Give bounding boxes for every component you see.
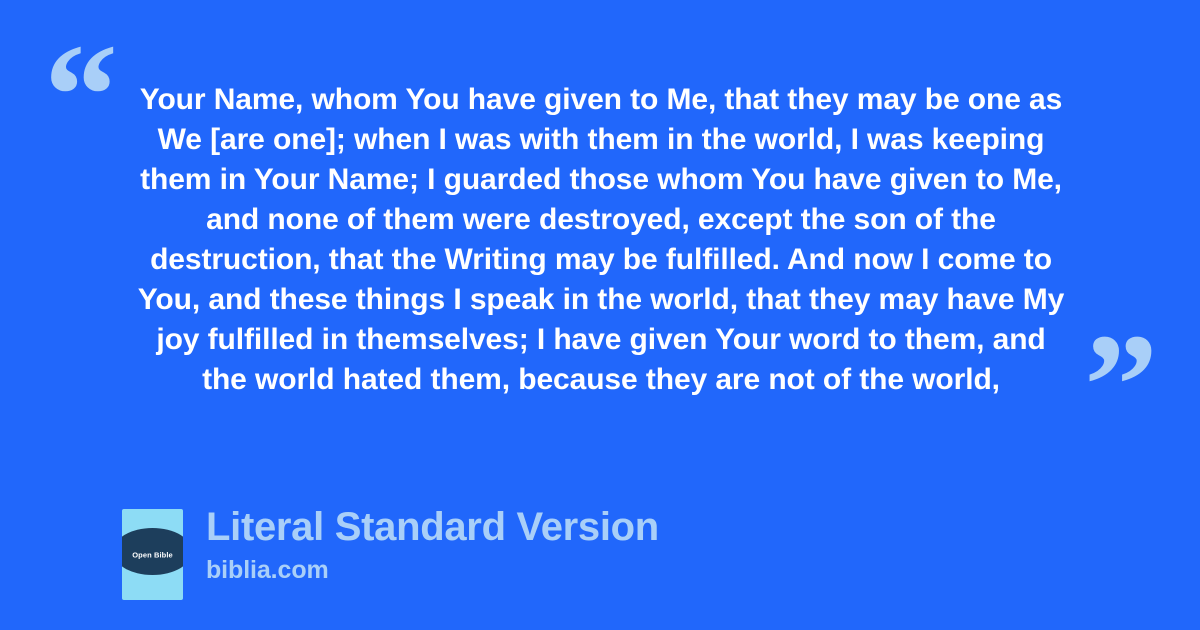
quote-line: them in Your Name; I guarded those whom …: [118, 160, 1084, 200]
brand-text-group: Literal Standard Version biblia.com: [206, 504, 659, 584]
open-bible-logo-icon: Open Bible: [122, 509, 183, 600]
bible-verse-quote-card: “ Your Name, whom You have given to Me, …: [0, 0, 1200, 630]
logo-band-label: Open Bible: [122, 550, 183, 559]
quote-line: destruction, that the Writing may be ful…: [118, 240, 1084, 280]
close-quote-mark-icon: ”: [1084, 312, 1158, 460]
quote-text-block: Your Name, whom You have given to Me, th…: [118, 80, 1084, 400]
quote-line: You, and these things I speak in the wor…: [118, 280, 1084, 320]
site-url-label: biblia.com: [206, 556, 659, 584]
quote-line: and none of them were destroyed, except …: [118, 200, 1084, 240]
quote-line: joy fulfilled in themselves; I have give…: [118, 320, 1084, 360]
branding: Open Bible Literal Standard Version bibl…: [122, 504, 659, 600]
quote-line: We [are one]; when I was with them in th…: [118, 120, 1084, 160]
quote-line: the world hated them, because they are n…: [118, 360, 1084, 400]
quote-line: Your Name, whom You have given to Me, th…: [118, 80, 1084, 120]
open-quote-mark-icon: “: [44, 22, 118, 170]
bible-version-title: Literal Standard Version: [206, 504, 659, 550]
